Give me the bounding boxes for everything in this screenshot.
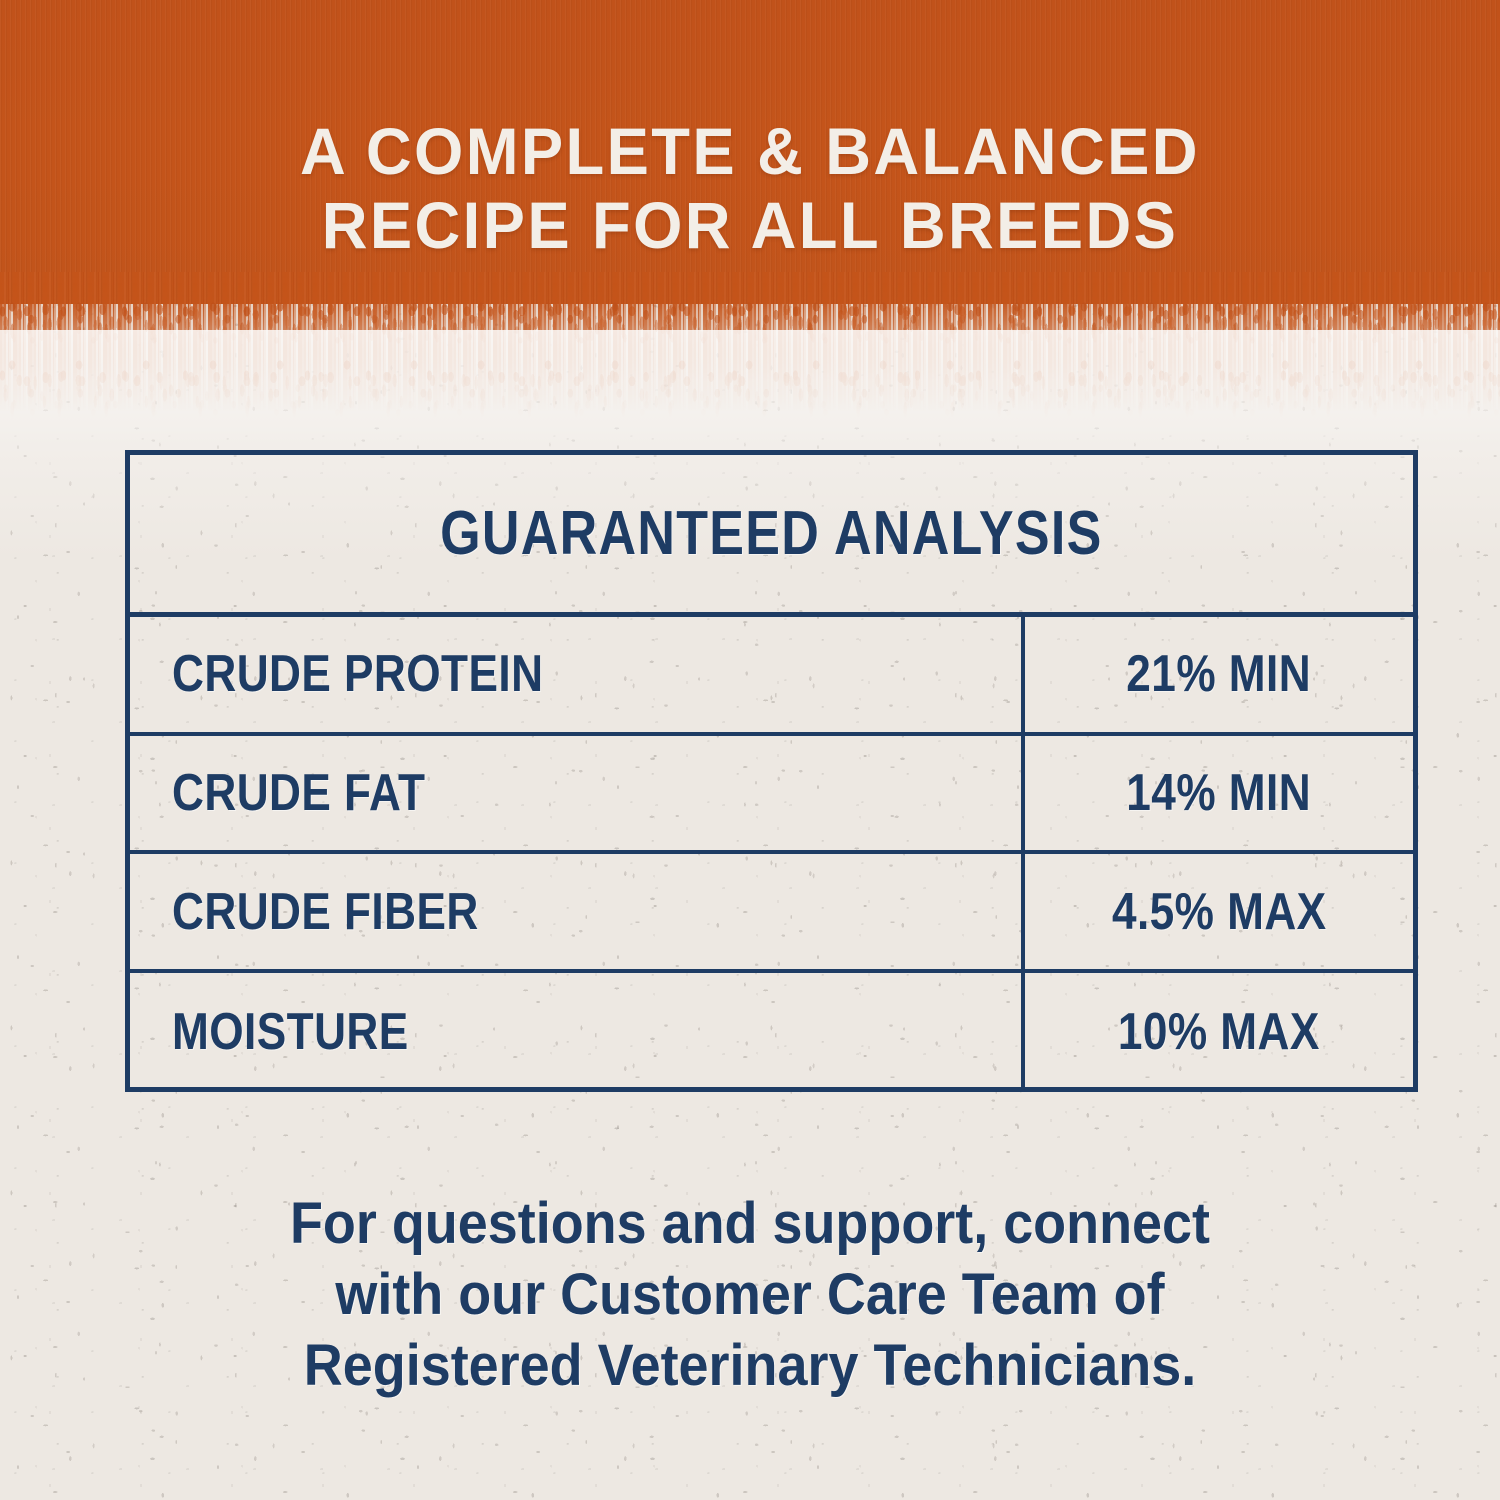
table-row: CRUDE FIBER 4.5% MAX <box>130 854 1413 973</box>
nutrient-label: CRUDE FIBER <box>172 882 479 942</box>
table-cell-value: 21% MIN <box>1025 617 1413 732</box>
nutrient-value: 4.5% MAX <box>1112 882 1327 942</box>
guaranteed-analysis-title: GUARANTEED ANALYSIS <box>440 498 1102 569</box>
nutrient-label: CRUDE PROTEIN <box>172 644 543 704</box>
table-cell-label: CRUDE FIBER <box>130 854 1025 969</box>
brush-stroke-speckle-edge <box>0 300 1500 420</box>
banner-headline: A COMPLETE & BALANCED RECIPE FOR ALL BRE… <box>30 114 1470 262</box>
nutrient-value: 10% MAX <box>1118 1002 1320 1062</box>
table-cell-value: 14% MIN <box>1025 736 1413 851</box>
nutrient-label: CRUDE FAT <box>172 763 425 823</box>
table-cell-label: MOISTURE <box>130 973 1025 1092</box>
table-row: MOISTURE 10% MAX <box>130 973 1413 1092</box>
nutrient-value: 14% MIN <box>1127 763 1312 823</box>
table-cell-value: 4.5% MAX <box>1025 854 1413 969</box>
table-row: CRUDE PROTEIN 21% MIN <box>130 617 1413 736</box>
packaging-info-panel: A COMPLETE & BALANCED RECIPE FOR ALL BRE… <box>0 0 1500 1500</box>
nutrient-label: MOISTURE <box>172 1002 409 1062</box>
guaranteed-analysis-header: GUARANTEED ANALYSIS <box>130 455 1413 617</box>
customer-support-message: For questions and support, connect with … <box>155 1188 1345 1401</box>
table-cell-value: 10% MAX <box>1025 973 1413 1092</box>
table-cell-label: CRUDE PROTEIN <box>130 617 1025 732</box>
table-row: CRUDE FAT 14% MIN <box>130 736 1413 855</box>
table-cell-label: CRUDE FAT <box>130 736 1025 851</box>
nutrient-value: 21% MIN <box>1127 644 1312 704</box>
guaranteed-analysis-table: GUARANTEED ANALYSIS CRUDE PROTEIN 21% MI… <box>125 450 1418 1092</box>
